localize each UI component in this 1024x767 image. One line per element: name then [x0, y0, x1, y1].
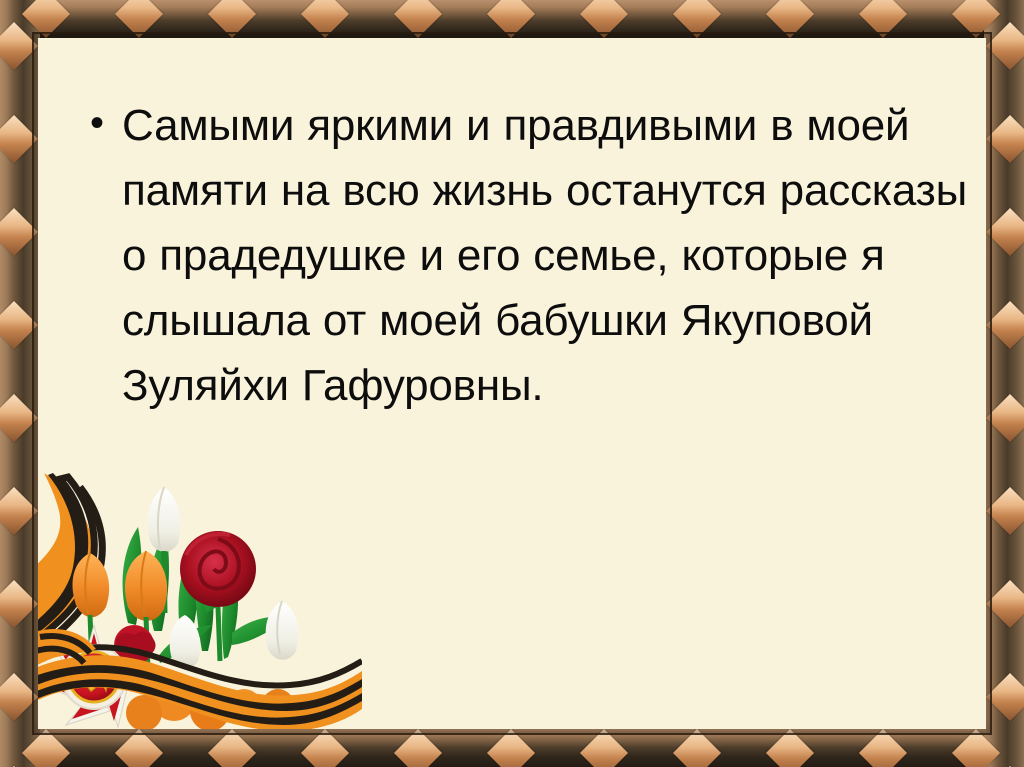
- red-rose: [180, 531, 256, 661]
- orange-blossom-filler: [126, 677, 294, 729]
- white-tulip-mid: [170, 615, 201, 668]
- st-george-ribbon-knot: [38, 629, 96, 669]
- hammer-and-sickle-icon: [75, 663, 107, 691]
- orange-tulip-center: [125, 551, 167, 669]
- orange-tulip-left: [72, 553, 109, 665]
- red-carnation-group: [91, 625, 156, 686]
- white-tulip-right: [266, 601, 299, 660]
- order-of-patriotic-war-medal: [46, 625, 128, 727]
- slide-content-panel: Самыми яркими и правдивыми в моей памяти…: [38, 38, 986, 729]
- frame-band-right: [984, 0, 1024, 767]
- bullet-item: Самыми яркими и правдивыми в моей памяти…: [90, 93, 970, 418]
- leaf-group: [123, 527, 288, 663]
- victory-day-floral-corner: [38, 473, 362, 729]
- frame-band-left: [0, 0, 40, 767]
- slide-body-text: Самыми яркими и правдивыми в моей памяти…: [90, 93, 970, 418]
- white-tulip-upper: [148, 487, 181, 613]
- presentation-slide: Самыми яркими и правдивыми в моей памяти…: [0, 0, 1024, 767]
- st-george-ribbon-lower: [38, 647, 362, 729]
- st-george-ribbon-upper: [38, 473, 102, 649]
